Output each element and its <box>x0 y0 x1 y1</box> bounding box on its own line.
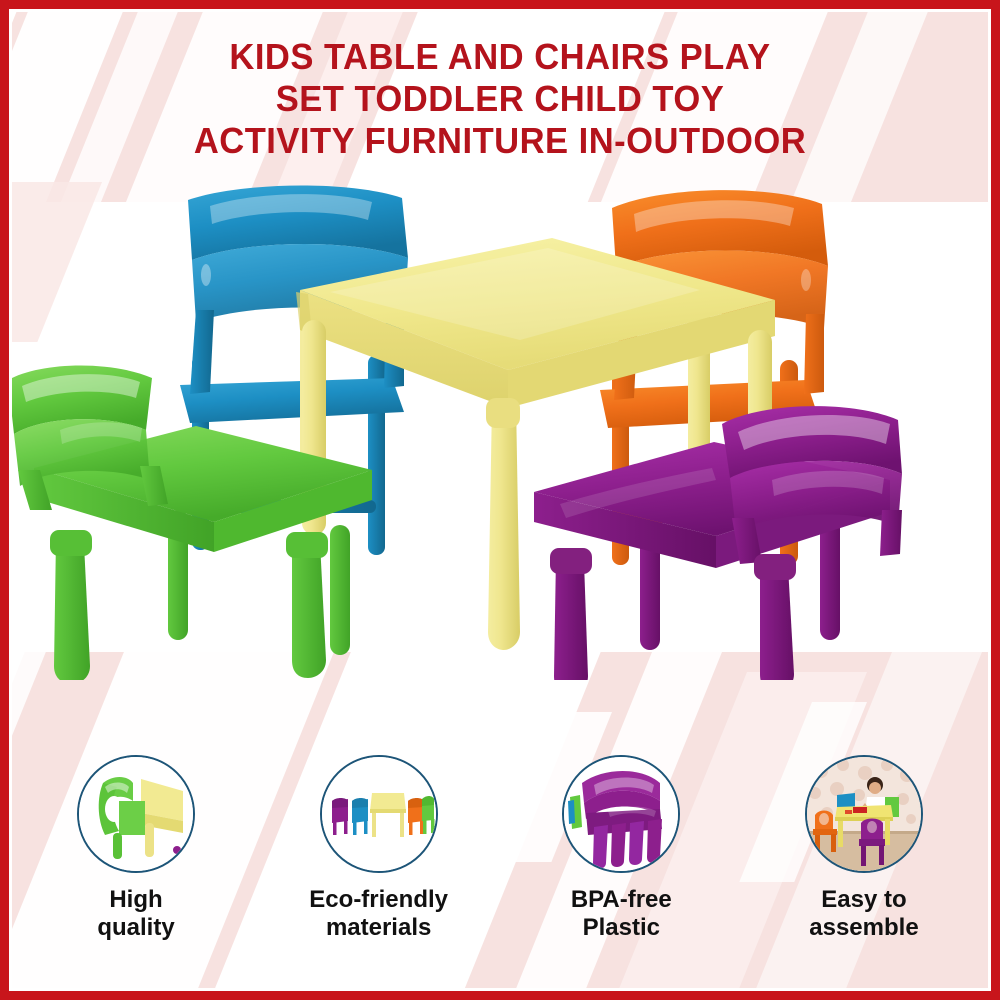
badge-label: High quality <box>97 886 174 942</box>
badge-eco-friendly: Eco-friendly materials <box>263 755 495 942</box>
product-hero-image <box>0 180 1000 680</box>
badge-easy-assemble: Easy to assemble <box>748 755 980 942</box>
poster-title: KIDS TABLE AND CHAIRS PLAY SET TODDLER C… <box>0 36 1000 162</box>
title-line-1: KIDS TABLE AND CHAIRS PLAY <box>20 36 980 78</box>
chairs-lineup-icon <box>320 755 438 873</box>
badge-label: Eco-friendly materials <box>309 886 448 942</box>
child-at-table-photo-icon <box>805 755 923 873</box>
table-yellow <box>296 238 775 650</box>
badge-label: Easy to assemble <box>809 886 918 942</box>
chair-purple-front-right <box>534 406 902 680</box>
title-line-3: ACTIVITY FURNITURE IN-OUTDOOR <box>20 120 980 162</box>
upturned-purple-chair-icon <box>562 755 680 873</box>
title-line-2: SET TODDLER CHILD TOY <box>20 78 980 120</box>
product-poster: KIDS TABLE AND CHAIRS PLAY SET TODDLER C… <box>0 0 1000 1000</box>
badge-label: BPA-free Plastic <box>571 886 672 942</box>
chair-table-closeup-icon <box>77 755 195 873</box>
badge-bpa-free: BPA-free Plastic <box>505 755 737 942</box>
badge-high-quality: High quality <box>20 755 252 942</box>
feature-badges: High quality <box>20 755 980 985</box>
